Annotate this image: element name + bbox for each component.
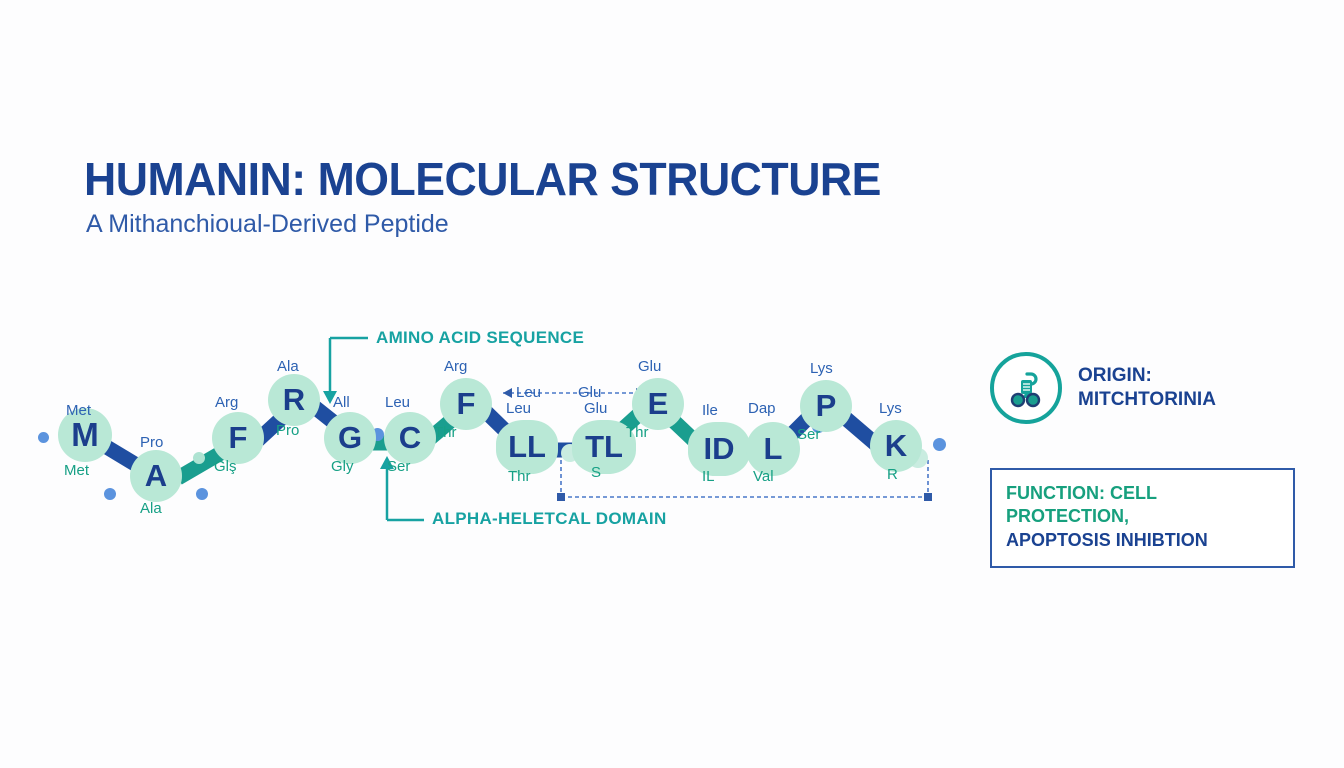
infographic-canvas: HUMANIN: MOLECULAR STRUCTURE A Mithanchi… bbox=[0, 0, 1344, 768]
residue-code: G bbox=[338, 420, 362, 456]
residue-top-label: Met bbox=[66, 402, 91, 419]
decor-dot bbox=[933, 438, 946, 451]
residue-top-label: Leu bbox=[506, 400, 531, 417]
residue-circle[interactable]: ID bbox=[688, 422, 750, 476]
residue-circle[interactable]: F bbox=[212, 412, 264, 464]
residue-circle[interactable]: F bbox=[440, 378, 492, 430]
residue-top-label: All bbox=[333, 394, 350, 411]
annotation-amino-acid-sequence: AMINO ACID SEQUENCE bbox=[376, 328, 584, 348]
function-line-1: FUNCTION: CELL PROTECTION, bbox=[1006, 482, 1279, 529]
residue-top-label: Arg bbox=[215, 394, 238, 411]
span-label-glu: Glu bbox=[578, 384, 601, 401]
residue-circle[interactable]: K bbox=[870, 420, 922, 472]
residue-top-label: Ile bbox=[702, 402, 718, 419]
residue-bottom-label: Thr bbox=[434, 424, 457, 441]
residue-bottom-label: Thr bbox=[626, 424, 649, 441]
annotation-alpha-helical-domain: ALPHA-HELETCAL DOMAIN bbox=[432, 509, 667, 529]
origin-badge: ORIGIN: MITCHTORINIA bbox=[990, 352, 1216, 424]
residue-bottom-label: Ala bbox=[140, 500, 162, 517]
residue-bottom-label: Pro bbox=[276, 422, 299, 439]
residue-bottom-label: Met bbox=[64, 462, 89, 479]
residue-top-label: Pro bbox=[140, 434, 163, 451]
residue-code: C bbox=[399, 420, 421, 456]
residue-bottom-label: S bbox=[591, 464, 601, 481]
residue-top-label: Dap bbox=[748, 400, 776, 417]
origin-line-1: ORIGIN: bbox=[1078, 364, 1216, 388]
residue-code: R bbox=[283, 382, 305, 418]
residue-top-label: Ala bbox=[277, 358, 299, 375]
residue-code: M bbox=[71, 416, 99, 454]
residue-code: K bbox=[885, 428, 907, 464]
residue-code: ID bbox=[704, 431, 735, 467]
residue-circle[interactable]: G bbox=[324, 412, 376, 464]
residue-code: A bbox=[145, 458, 167, 494]
residue-bottom-label: IL bbox=[702, 468, 715, 485]
residue-bottom-label: Val bbox=[753, 468, 774, 485]
residue-top-label: Arg bbox=[444, 358, 467, 375]
residue-code: F bbox=[229, 420, 248, 456]
residue-code: TL bbox=[585, 429, 623, 465]
decor-dot bbox=[196, 488, 208, 500]
residue-top-label: Glu bbox=[584, 400, 607, 417]
residue-bottom-label: Ser bbox=[387, 458, 410, 475]
decor-dot bbox=[38, 432, 49, 443]
residue-circle[interactable]: P bbox=[800, 380, 852, 432]
residue-circle[interactable]: R bbox=[268, 374, 320, 426]
residue-circle[interactable]: C bbox=[384, 412, 436, 464]
residue-code: E bbox=[648, 386, 669, 422]
residue-top-label: Leu bbox=[385, 394, 410, 411]
decor-dot bbox=[193, 452, 205, 464]
decor-dot bbox=[104, 488, 116, 500]
mitochondria-icon bbox=[990, 352, 1062, 424]
residue-code: LL bbox=[508, 429, 546, 465]
residue-code: P bbox=[816, 388, 837, 424]
residue-circle[interactable]: E bbox=[632, 378, 684, 430]
page-subtitle: A Mithanchioual-Derived Peptide bbox=[86, 210, 449, 239]
residue-bottom-label: R bbox=[887, 466, 898, 483]
page-title: HUMANIN: MOLECULAR STRUCTURE bbox=[84, 152, 881, 206]
residue-circle[interactable]: LL bbox=[496, 420, 558, 474]
residue-top-label: Lys bbox=[810, 360, 833, 377]
function-box: FUNCTION: CELL PROTECTION, APOPTOSIS INH… bbox=[990, 468, 1295, 568]
origin-text: ORIGIN: MITCHTORINIA bbox=[1078, 364, 1216, 413]
span-label-leu: Leu bbox=[516, 384, 541, 401]
residue-circle[interactable]: A bbox=[130, 450, 182, 502]
origin-line-2: MITCHTORINIA bbox=[1078, 388, 1216, 412]
function-line-2: APOPTOSIS INHIBTION bbox=[1006, 529, 1279, 552]
peptide-chain-diagram: M Met Met A Pro Ala F Arg Glş R Ala Pro … bbox=[0, 300, 980, 560]
residue-code: L bbox=[764, 431, 783, 467]
residue-bottom-label: Glş bbox=[214, 458, 237, 475]
residue-top-label: Glu bbox=[638, 358, 661, 375]
residue-bottom-label: Gly bbox=[331, 458, 354, 475]
residue-bottom-label: Thr bbox=[508, 468, 531, 485]
residue-top-label: Lys bbox=[879, 400, 902, 417]
residue-code: F bbox=[457, 386, 476, 422]
residue-bottom-label: Ser bbox=[797, 426, 820, 443]
